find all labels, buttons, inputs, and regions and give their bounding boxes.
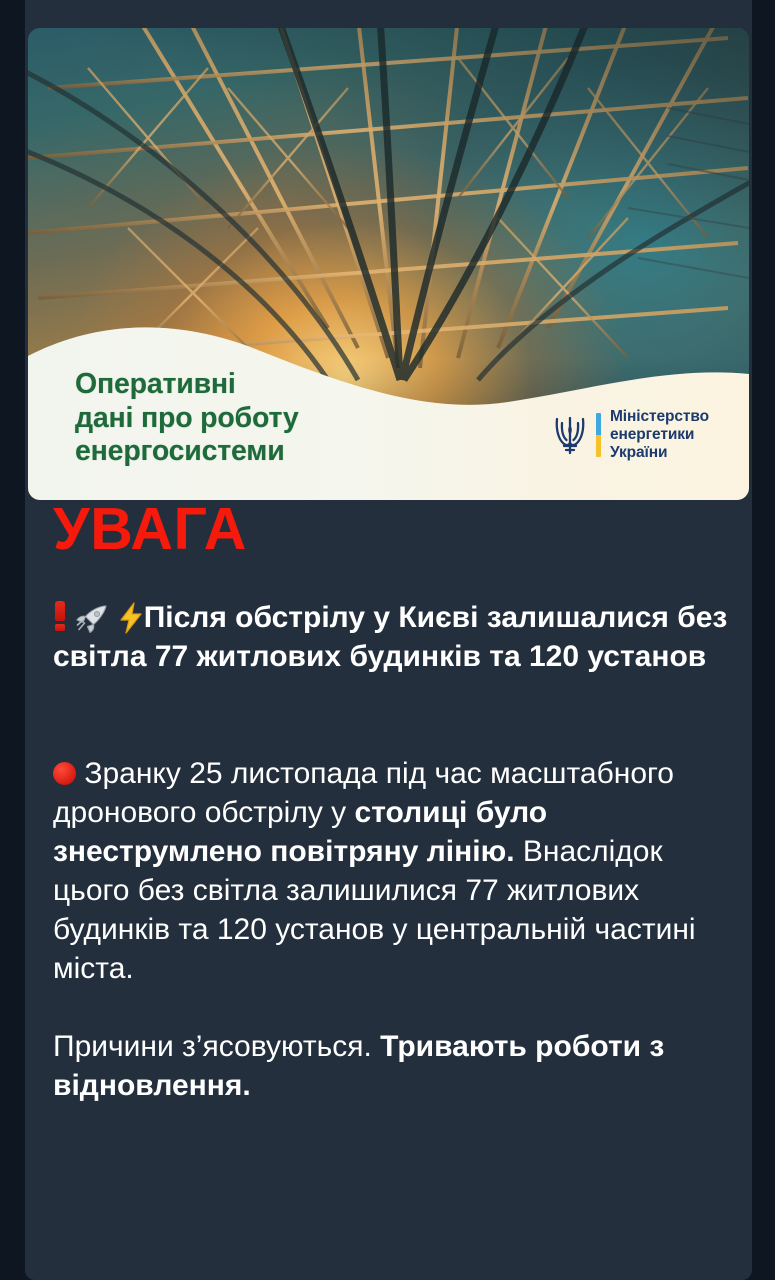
flag-accent-bar [596,413,601,457]
body-paragraph-2: Причини з’ясовуються. Тривають роботи з … [53,1027,731,1105]
red-circle-emoji [53,762,76,785]
ministry-logo: Міністерство енергетики України [553,408,709,462]
headline-text: Після обстрілу у Києві залишалися без св… [53,601,727,673]
banner: Оперативні дані про роботу енергосистеми [28,310,749,500]
banner-title: Оперативні дані про роботу енергосистеми [75,368,299,469]
paragraph-spacer-3 [53,988,731,1027]
rocket-emoji [75,603,109,633]
post-text: Після обстрілу у Києві залишалися без св… [53,598,731,1105]
ministry-logo-text: Міністерство енергетики України [610,408,709,462]
attention-heading: УВАГА [53,500,247,559]
paragraph-spacer-2 [53,715,731,754]
paragraph-spacer [53,676,731,715]
message-bubble[interactable]: Оперативні дані про роботу енергосистеми [25,0,752,1280]
body-run-2-a: Причини з’ясовуються. [53,1030,380,1063]
body-paragraph-1: Зранку 25 листопада під час масштабного … [53,754,731,988]
exclamation-mark-emoji [53,601,67,631]
media-card[interactable]: Оперативні дані про роботу енергосистеми [28,28,749,500]
ukraine-trident-icon [553,413,587,457]
headline-paragraph: Після обстрілу у Києві залишалися без св… [53,598,731,676]
high-voltage-emoji [118,602,144,634]
screen: Оперативні дані про роботу енергосистеми [0,0,775,1280]
